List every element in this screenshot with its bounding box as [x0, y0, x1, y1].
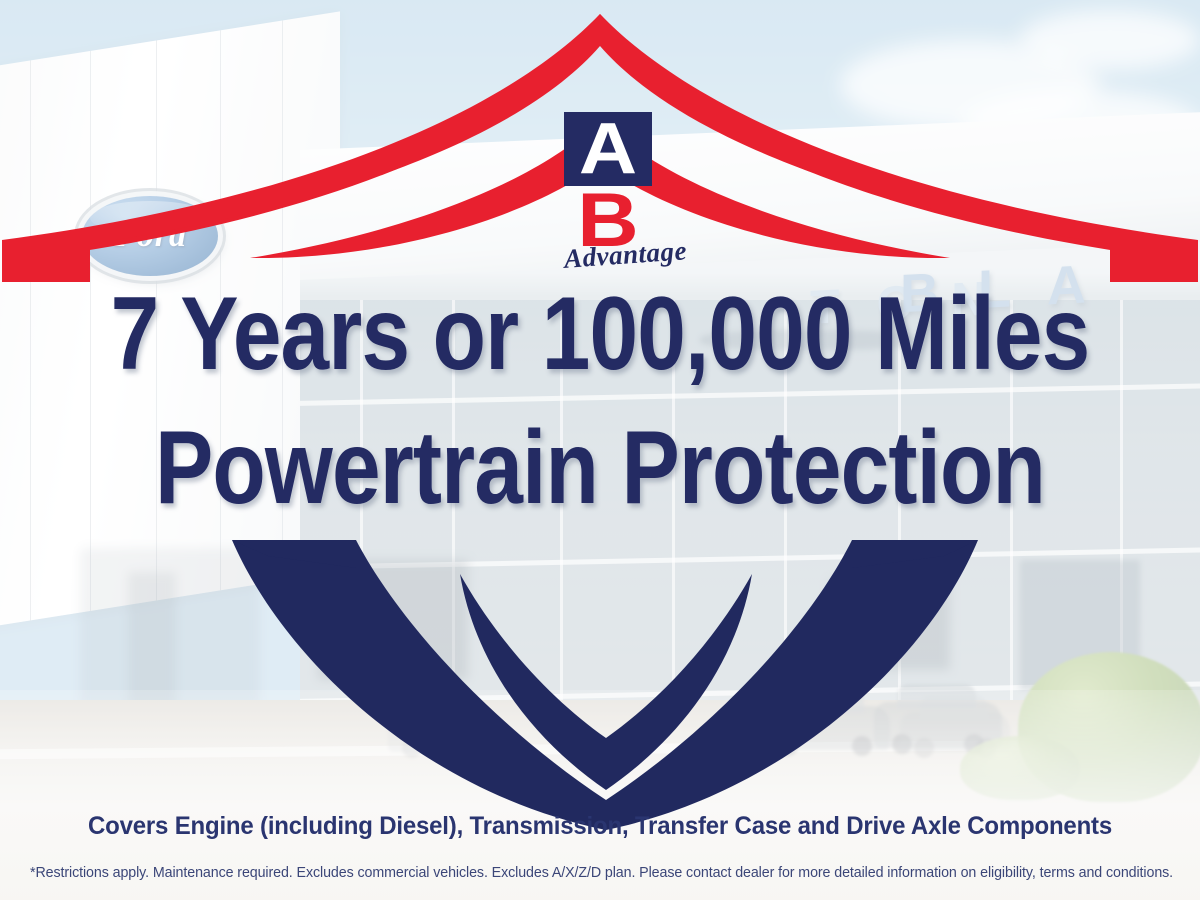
coverage-text: Covers Engine (including Diesel), Transm…	[24, 812, 1176, 841]
headline-line-2: Powertrain Protection	[96, 416, 1104, 520]
logo-letter-a-box: A	[564, 112, 652, 186]
light-pole	[350, 556, 354, 616]
cloud	[1020, 10, 1200, 70]
light-pole	[864, 582, 868, 678]
shrub	[960, 736, 1080, 800]
headline-line-1: 7 Years or 100,000 Miles	[96, 282, 1104, 386]
logo-letter-a: A	[579, 118, 637, 180]
ab-advantage-logo: A B Advantage	[560, 112, 656, 254]
ford-wordmark: Ford	[82, 196, 218, 276]
parked-car	[388, 714, 504, 752]
ford-oval-logo: Ford	[82, 196, 218, 276]
disclaimer-text: *Restrictions apply. Maintenance require…	[30, 864, 1170, 881]
parked-car	[760, 706, 890, 750]
promotional-banner: T O N B L A Ford A B Advantage 7 Years o…	[0, 0, 1200, 900]
